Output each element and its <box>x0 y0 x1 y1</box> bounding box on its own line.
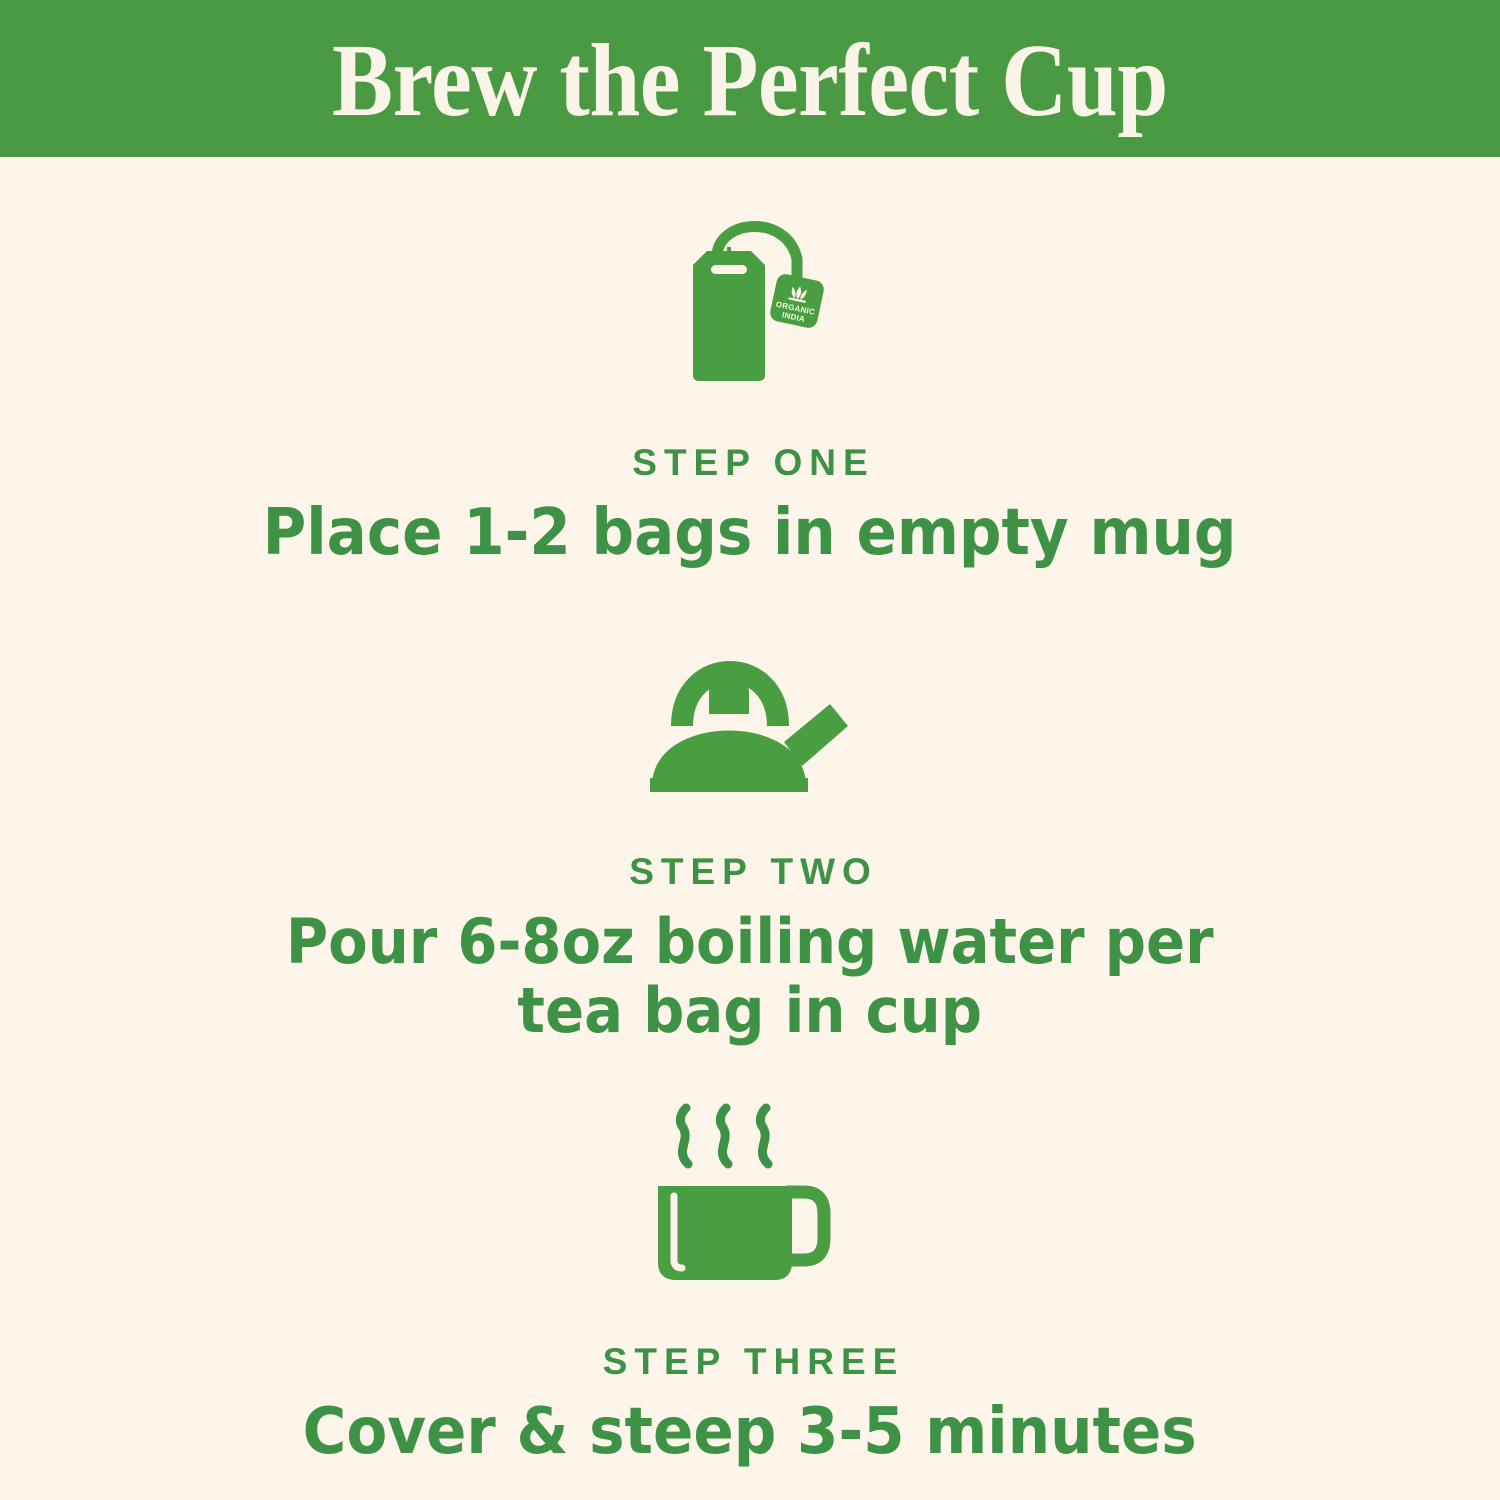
step-one-section: ORGANIC INDIA STEP ONE Place 1-2 bags in… <box>0 203 1500 570</box>
step-two-section: STEP TWO Pour 6-8oz boiling water per te… <box>0 630 1500 1046</box>
tea-bag-icon: ORGANIC INDIA <box>655 203 845 398</box>
step-one-label: STEP ONE <box>625 442 874 484</box>
step-three-text: Cover & steep 3-5 minutes <box>303 1397 1197 1469</box>
brewing-instructions-page: Brew the Perfect Cup <box>0 0 1500 1500</box>
steps-container: ORGANIC INDIA STEP ONE Place 1-2 bags in… <box>0 157 1500 1500</box>
step-one-text: Place 1-2 bags in empty mug <box>263 498 1237 570</box>
header-band: Brew the Perfect Cup <box>0 0 1500 157</box>
step-two-label: STEP TWO <box>622 851 878 893</box>
mug-steam-icon <box>652 1102 848 1297</box>
step-three-label: STEP THREE <box>596 1341 905 1383</box>
kettle-icon <box>634 630 866 807</box>
step-three-section: STEP THREE Cover & steep 3-5 minutes <box>0 1102 1500 1469</box>
step-two-text: Pour 6-8oz boiling water per tea bag in … <box>286 907 1214 1046</box>
page-title: Brew the Perfect Cup <box>332 29 1168 133</box>
